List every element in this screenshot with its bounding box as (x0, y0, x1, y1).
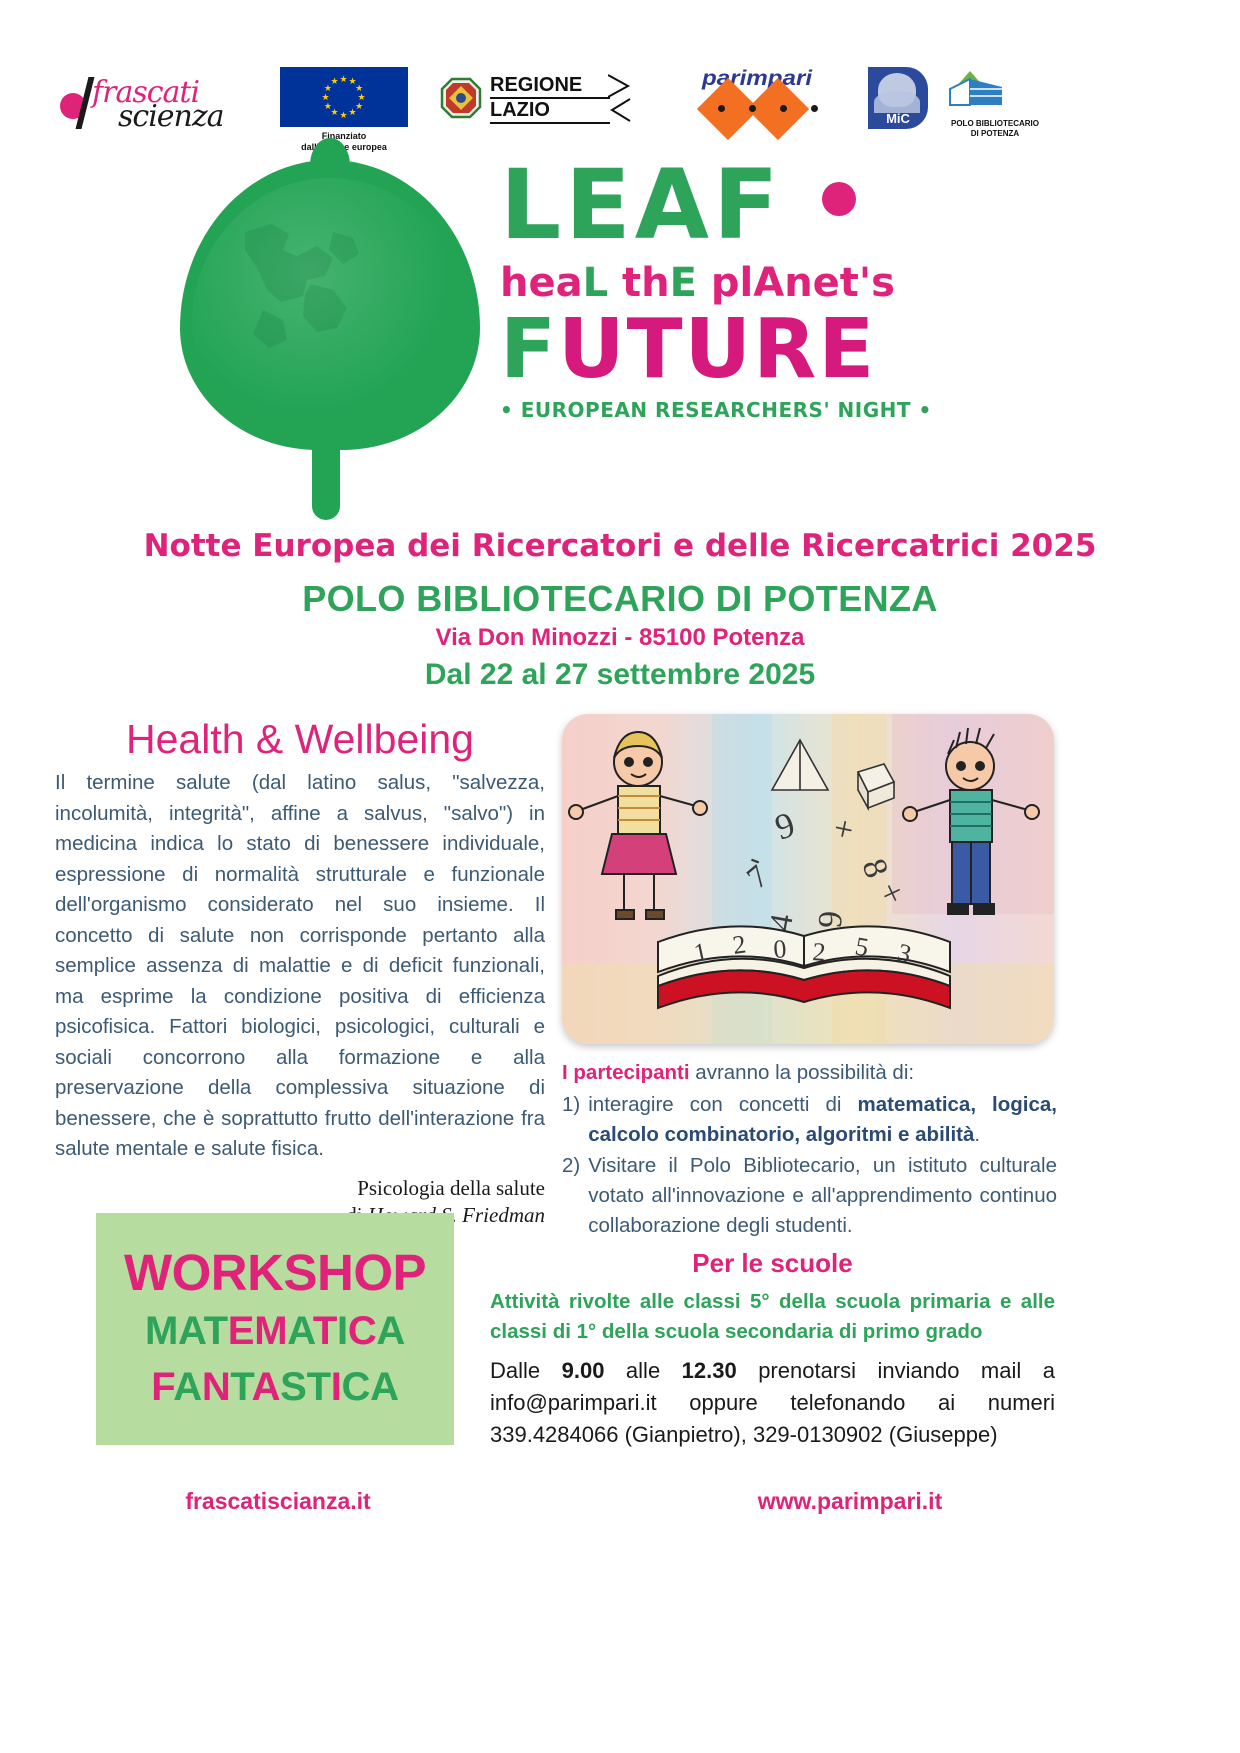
parimpari-dot (749, 105, 756, 112)
tagline-l: L (583, 260, 609, 306)
sponsor-logo-bar: frascati scienza ★★★★★★★★★★★★ Finanziato… (0, 55, 1240, 155)
polo-caption-line1: POLO BIBLIOTECARIO (940, 119, 1050, 129)
workshop-letter: S (280, 1365, 306, 1409)
workshop-letter: E (228, 1309, 254, 1353)
workshop-letter: A (370, 1365, 399, 1409)
european-researchers-night-subtitle: • EUROPEAN RESEARCHERS' NIGHT • (500, 398, 920, 422)
workshop-heading: WORKSHOP (124, 1243, 426, 1303)
list-item-text: interagire con concetti di matematica, l… (588, 1090, 1057, 1150)
lazio-emblem-icon (440, 77, 482, 119)
footer-link-parimpari[interactable]: www.parimpari.it (640, 1488, 1060, 1515)
eu-star-icon: ★ (349, 108, 357, 117)
parimpari-logo: parimpari (700, 65, 835, 135)
workshop-subject-fantastica: FANTASTICA (151, 1359, 398, 1415)
leaf-hero-banner: LEAF heaL thE plAnet's FUTURE • EUROPEAN… (0, 150, 1240, 570)
mic-figure-base-icon (874, 91, 920, 113)
participants-lead-rest: avranno la possibilità di: (690, 1061, 915, 1084)
workshop-letter: I (337, 1309, 348, 1353)
eu-flag-icon: ★★★★★★★★★★★★ (280, 67, 408, 127)
parimpari-dot (718, 105, 725, 112)
eu-star-icon: ★ (322, 93, 330, 102)
workshop-letter: A (178, 1309, 204, 1353)
list-item: 2) Visitare il Polo Bibliotecario, un is… (562, 1151, 1057, 1241)
leaf-wordmark-text: LEAF (500, 149, 783, 261)
lazio-line-regione: REGIONE (490, 74, 610, 97)
eu-star-icon: ★ (324, 102, 332, 111)
source-title: Psicologia della salute (55, 1175, 545, 1202)
drawing-background: 9 - 7 + 8 × 6 4 1 2 0 2 5 (562, 714, 1054, 1044)
workshop-letter: I (331, 1365, 342, 1409)
list-item: 1) interagire con concetti di matematica… (562, 1090, 1057, 1150)
open-book-illustration: 1 2 0 2 5 3 (658, 926, 950, 1008)
workshop-letter: F (151, 1365, 173, 1409)
event-title: Notte Europea dei Ricercatori e delle Ri… (0, 528, 1240, 564)
workshop-letter: A (287, 1309, 313, 1353)
tagline-planets: plAnet's (697, 260, 895, 306)
leaf-tagline: heaL thE plAnet's (500, 260, 920, 306)
parimpari-dot (780, 105, 787, 112)
leaf-illustration (160, 160, 500, 530)
workshop-letter: A (252, 1365, 281, 1409)
parimpari-dot (811, 105, 818, 112)
booking-time-start: 9.00 (562, 1358, 605, 1383)
tagline-th: th (608, 260, 670, 306)
workshop-letter: M (254, 1309, 287, 1353)
mic-ministry-logo: MiC (868, 67, 928, 129)
venue-address: Via Don Minozzi - 85100 Potenza (0, 624, 1240, 652)
list-item-number: 1) (562, 1090, 580, 1150)
frascati-scienza-logo: frascati scienza (60, 73, 260, 135)
leaf-future-word: FUTURE (500, 306, 920, 394)
schools-section: Per le scuole Attività rivolte alle clas… (490, 1248, 1055, 1451)
lazio-chevron-icon (608, 73, 634, 125)
svg-text:2: 2 (812, 937, 827, 967)
participants-activity-list: 1) interagire con concetti di matematica… (562, 1090, 1057, 1241)
childrens-drawing-image: 9 - 7 + 8 × 6 4 1 2 0 2 5 (562, 714, 1054, 1044)
eu-star-icon: ★ (340, 111, 348, 120)
workshop-letter: T (313, 1309, 337, 1353)
future-f-letter: F (500, 302, 558, 397)
europe-map-icon (215, 192, 405, 392)
regione-lazio-logo: REGIONE LAZIO (440, 69, 625, 131)
svg-text:0: 0 (772, 934, 787, 964)
lazio-text-block: REGIONE LAZIO (490, 74, 610, 124)
eu-star-icon: ★ (340, 75, 348, 84)
workshop-letter: N (202, 1365, 231, 1409)
footer-link-frascati[interactable]: frascatiscianza.it (98, 1488, 458, 1515)
tagline-he: he (500, 260, 556, 306)
scienza-word: scienza (118, 99, 224, 134)
booking-mid: alle (604, 1358, 681, 1383)
health-wellbeing-column: Health & Wellbeing Il termine salute (da… (55, 714, 545, 1229)
workshop-letter: A (376, 1309, 405, 1353)
polo-caption-line2: DI POTENZA (940, 129, 1050, 139)
workshop-letter: T (230, 1365, 251, 1409)
svg-text:6: 6 (811, 909, 849, 929)
mic-badge: MiC (868, 67, 928, 129)
participants-column: 9 - 7 + 8 × 6 4 1 2 0 2 5 (562, 714, 1057, 1242)
workshop-letter: T (204, 1309, 228, 1353)
participants-lead: I partecipanti avranno la possibilità di… (562, 1058, 1057, 1088)
schools-booking-info: Dalle 9.00 alle 12.30 prenotarsi inviand… (490, 1355, 1055, 1451)
workshop-subject-matematica: MATEMATICA (145, 1303, 405, 1359)
mic-label: MiC (868, 111, 928, 126)
workshop-letter: A (173, 1365, 202, 1409)
lazio-line-lazio: LAZIO (490, 99, 610, 122)
health-wellbeing-body: Il termine salute (dal latino salus, "sa… (55, 768, 545, 1165)
booking-pre: Dalle (490, 1358, 562, 1383)
list-item-text: Visitare il Polo Bibliotecario, un istit… (588, 1151, 1057, 1241)
participants-label: I partecipanti (562, 1061, 690, 1084)
parimpari-dots (718, 105, 818, 112)
polo-bibliotecario-logo: POLO BIBLIOTECARIO DI POTENZA (940, 65, 1050, 139)
eu-star-icon: ★ (331, 77, 339, 86)
future-rest-letters: UTURE (558, 302, 876, 397)
leaf-pink-dot-icon (822, 182, 856, 216)
health-wellbeing-title: Health & Wellbeing (55, 714, 545, 764)
list-item-number: 2) (562, 1151, 580, 1241)
tagline-a: a (556, 260, 583, 306)
schools-target-classes: Attività rivolte alle classi 5° della sc… (490, 1287, 1055, 1347)
workshop-letter: T (307, 1365, 331, 1409)
venue-title: POLO BIBLIOTECARIO DI POTENZA (0, 578, 1240, 620)
leaf-stem-shape (312, 432, 340, 520)
item1-pre: interagire con concetti di (588, 1093, 857, 1116)
workshop-letter: C (348, 1309, 377, 1353)
schools-title: Per le scuole (490, 1248, 1055, 1279)
booking-time-end: 12.30 (682, 1358, 737, 1383)
item1-post: . (974, 1123, 980, 1146)
workshop-box: WORKSHOP MATEMATICA FANTASTICA (96, 1213, 454, 1445)
eu-caption-line1: Finanziato (280, 131, 408, 142)
lazio-rule-2 (490, 122, 610, 124)
workshop-letter: C (342, 1365, 371, 1409)
polo-building-icon (940, 65, 1012, 111)
tagline-e: E (670, 260, 697, 306)
eu-funding-logo: ★★★★★★★★★★★★ Finanziato dall'Unione euro… (280, 67, 408, 153)
leaf-wordmark: LEAF (500, 150, 920, 260)
workshop-letter: M (145, 1309, 178, 1353)
event-dates: Dal 22 al 27 settembre 2025 (0, 658, 1240, 692)
leaf-wordmark-block: LEAF heaL thE plAnet's FUTURE • EUROPEAN… (500, 150, 920, 422)
